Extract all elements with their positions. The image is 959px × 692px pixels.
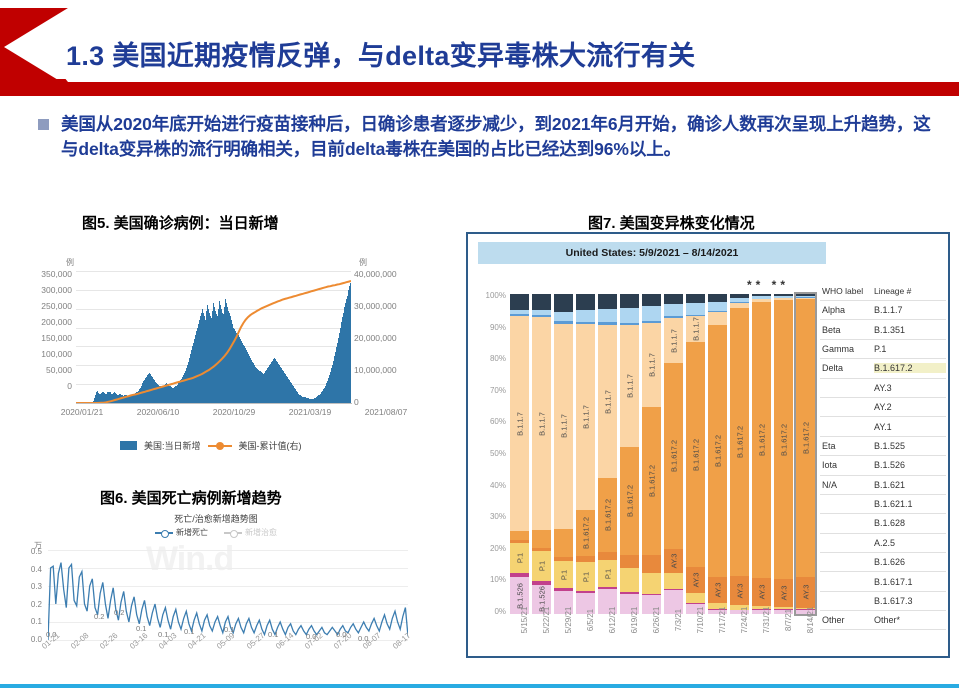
fig7-x-tick-label: 6/12/21 [608, 607, 617, 634]
fig7-bar-segment [708, 302, 727, 311]
fig7-bar-segment: B.1.1.7 [554, 324, 573, 529]
fig5-right-unit: 例 [359, 257, 367, 268]
fig6-legend-marker-deaths [155, 529, 173, 537]
fig6-subtitle: 死亡/治愈新增趋势图 [6, 512, 426, 525]
fig6-legend-label-deaths: 新增死亡 [176, 527, 208, 538]
fig7-stacked-bar: B.1.1.7P.1B.1.526 [532, 294, 551, 614]
fig7-bar-segment [576, 310, 595, 322]
fig5-legend-line-label: 美国-累计值(右) [239, 439, 302, 452]
fig7-table-cell-lineage: B.1.526 [874, 460, 946, 470]
fig7-asterisk-annotation: ** ** [747, 278, 789, 292]
fig7-stacked-bar: B.1.1.7B.1.617.2AY.3 [664, 294, 683, 614]
fig7-stacked-bar: B.1.1.7B.1.617.2 [642, 294, 661, 614]
fig7-bar-segment: AY.3 [708, 577, 727, 603]
fig5-line-series [76, 271, 351, 403]
fig7-bar-segment [642, 555, 661, 573]
fig7-table-cell-lineage: B.1.626 [874, 557, 946, 567]
fig7-bar-segment [510, 531, 529, 541]
fig7-table-cell-who: N/A [822, 480, 874, 490]
fig7-bar-segment [686, 303, 705, 315]
fig7-y-tick: 60% [474, 418, 506, 450]
fig7-segment-label: B.1.617.2 [669, 440, 678, 472]
fig7-x-tick: 5/29/21 [554, 618, 573, 652]
fig7-x-tick-label: 5/29/21 [564, 607, 573, 634]
fig5-legend: 美国:当日新增 美国-累计值(右) [120, 439, 302, 452]
fig7-table-cell-lineage: AY.1 [874, 422, 946, 432]
bullet-text: 美国从2020年底开始进行疫苗接种后，日确诊患者逐步减少，到2021年6月开始，… [61, 112, 938, 162]
bullet-square-icon [38, 119, 49, 130]
fig7-y-tick: 20% [474, 545, 506, 577]
fig7-table-cell-lineage: B.1.1.7 [874, 305, 946, 315]
fig7-table-header-who: WHO label [822, 286, 874, 296]
fig7-stacked-bar: B.1.617.2AY.3 [730, 294, 749, 614]
fig7-stacked-bar: B.1.1.7B.1.617.2P.1 [576, 294, 595, 614]
fig7-bar-segment: AY.3 [686, 567, 705, 593]
fig7-bar-segment: P.1 [510, 543, 529, 573]
fig5-y2-tick: 40,000,000 [354, 269, 424, 301]
fig7-table-cell-lineage: B.1.525 [874, 441, 946, 451]
fig7-table-cell-who: Beta [822, 325, 874, 335]
fig7-table-row: AY.2 [820, 397, 946, 416]
fig7-y-tick: 40% [474, 482, 506, 514]
fig7-bar-segment [554, 312, 573, 321]
fig7-table-row: B.1.617.1 [820, 571, 946, 590]
fig6-legend-item-recovered: 新增治愈 [224, 527, 277, 538]
fig7-bar-segment [510, 294, 529, 310]
fig5-secondary-y-axis-labels: 40,000,00030,000,00020,000,00010,000,000… [354, 269, 424, 429]
fig7-segment-label: AY.3 [713, 582, 722, 597]
fig7-x-tick: 7/10/21 [686, 618, 705, 652]
fig7-segment-label: B.1.1.7 [581, 405, 590, 429]
fig7-stacked-bar: B.1.1.7B.1.617.2 [620, 294, 639, 614]
chart-fig6: 死亡/治愈新增趋势图 新增死亡 新增治愈 万 0.50.40.30.20.10.… [6, 512, 426, 682]
fig7-table-row: B.1.621.1 [820, 494, 946, 513]
fig7-bar-segment [532, 294, 551, 310]
fig7-bar-segment [620, 555, 639, 568]
fig7-segment-label: B.1.1.7 [515, 412, 524, 436]
fig5-x-axis [76, 403, 352, 404]
fig7-table-row: AY.3 [820, 378, 946, 397]
fig7-table-header: WHO label Lineage # [820, 286, 946, 300]
fig7-lineage-table: WHO label Lineage # AlphaB.1.1.7BetaB.1.… [820, 286, 946, 630]
fig7-bar-segment [554, 294, 573, 312]
fig7-x-tick-label: 7/17/21 [718, 607, 727, 634]
fig7-table-cell-lineage: B.1.617.1 [874, 577, 946, 587]
fig7-bar-segment [598, 309, 617, 322]
fig7-x-tick: 6/26/21 [642, 618, 661, 652]
fig5-legend-bar-swatch [120, 441, 137, 450]
fig7-bar-segment: B.1.1.7 [620, 325, 639, 447]
fig7-bar-segment: B.1.617.2 [730, 308, 749, 576]
fig7-table-cell-who: Iota [822, 460, 874, 470]
fig7-table-cell-who: Other [822, 615, 874, 625]
fig7-y-tick: 90% [474, 324, 506, 356]
fig6-legend-item-deaths: 新增死亡 [155, 527, 208, 538]
fig7-x-tick: 5/22/21 [532, 618, 551, 652]
fig7-segment-label: B.1.1.7 [669, 329, 678, 353]
fig7-segment-label: AY.3 [801, 585, 810, 600]
fig7-x-tick: 8/14/21 [796, 618, 815, 652]
fig7-table-cell-lineage: B.1.617.2 [874, 363, 946, 373]
fig7-bar-segment [664, 294, 683, 304]
page-title: 1.3 美国近期疫情反弹，与delta变异毒株大流行有关 [66, 34, 695, 73]
fig6-legend: 新增死亡 新增治愈 [6, 527, 426, 538]
figure5-title: 图5. 美国确诊病例：当日新增 [82, 212, 279, 233]
fig5-y2-tick: 10,000,000 [354, 365, 424, 397]
fig7-table-cell-lineage: A.2.5 [874, 538, 946, 548]
fig7-bar-segment: B.1.617.2 [664, 363, 683, 549]
fig6-data-label: 0.1 [184, 627, 194, 636]
fig6-y-tick: 0.3 [10, 583, 42, 601]
title-banner: 1.3 美国近期疫情反弹，与delta变异毒株大流行有关 [0, 8, 959, 96]
fig7-segment-label: AY.3 [691, 573, 700, 588]
fig7-bar-segment: B.1.617.2 [642, 407, 661, 555]
fig7-table-row: B.1.626 [820, 552, 946, 571]
fig6-y-tick: 0.0 [10, 636, 42, 654]
fig7-bar-segment [664, 573, 683, 589]
chart-fig7: United States: 5/9/2021 – 8/14/2021 ** *… [466, 232, 950, 658]
fig7-table-row: DeltaB.1.617.2 [820, 358, 946, 377]
fig7-x-tick-label: 6/26/21 [652, 607, 661, 634]
fig5-x-tick: 2020/01/21 [44, 407, 120, 417]
fig6-y-tick: 0.2 [10, 601, 42, 619]
fig7-x-tick: 7/3/21 [664, 618, 683, 652]
fig5-legend-bar-label: 美国:当日新增 [144, 439, 201, 452]
fig7-stacked-bar: B.1.617.2AY.3 [752, 294, 771, 614]
fig7-segment-label: B.1.1.7 [603, 390, 612, 414]
fig7-segment-label: B.1.1.7 [559, 414, 568, 438]
fig7-table-cell-lineage: P.1 [874, 344, 946, 354]
fig7-x-tick: 7/24/21 [730, 618, 749, 652]
fig5-y-tick: 100,000 [24, 349, 72, 365]
fig7-table-header-lineage: Lineage # [874, 286, 911, 296]
footer-accent-line [0, 684, 959, 688]
fig7-bar-segment [598, 552, 617, 560]
fig7-bar-segment: P.1 [598, 560, 617, 587]
fig7-table-cell-lineage: B.1.628 [874, 518, 946, 528]
figure7-title: 图7. 美国变异株变化情况 [588, 212, 755, 233]
fig7-x-tick-label: 5/15/21 [520, 607, 529, 634]
fig5-x-tick: 2020/06/10 [120, 407, 196, 417]
fig7-stacked-bar: B.1.617.2AY.3 [774, 294, 793, 614]
fig7-bar-segment: B.1.617.2 [686, 342, 705, 567]
fig7-segment-label: AY.3 [735, 583, 744, 598]
fig7-bar-segment [554, 529, 573, 558]
fig7-table-cell-lineage: AY.2 [874, 402, 946, 412]
fig7-x-tick: 8/7/21 [774, 618, 793, 652]
fig7-bar-segment: B.1.1.7 [576, 324, 595, 510]
fig7-table-cell-lineage: B.1.617.3 [874, 596, 946, 606]
fig6-legend-label-recovered: 新增治愈 [245, 527, 277, 538]
fig7-table-row: AY.1 [820, 416, 946, 435]
fig7-segment-label: B.1.526 [515, 583, 524, 609]
fig7-segment-label: B.1.617.2 [691, 439, 700, 471]
fig5-left-unit: 例 [66, 257, 74, 268]
fig7-bar-segment [708, 294, 727, 302]
fig7-stacked-bar: B.1.617.2AY.3 [796, 294, 815, 614]
fig7-stacked-bars: B.1.1.7P.1B.1.526B.1.1.7P.1B.1.526B.1.1.… [510, 294, 815, 614]
fig7-table-row: B.1.617.3 [820, 591, 946, 610]
bullet-paragraph: 美国从2020年底开始进行疫苗接种后，日确诊患者逐步减少，到2021年6月开始，… [38, 112, 938, 162]
fig7-stacked-bar: B.1.1.7B.1.617.2P.1 [598, 294, 617, 614]
fig7-segment-label: B.1.1.7 [625, 374, 634, 398]
fig7-segment-label: AY.3 [779, 586, 788, 601]
fig7-bar-segment [532, 530, 551, 548]
fig7-table-cell-lineage: B.1.621.1 [874, 499, 946, 509]
fig7-table-cell-lineage: Other* [874, 615, 946, 625]
fig5-y-tick: 350,000 [24, 269, 72, 285]
fig7-y-tick: 70% [474, 387, 506, 419]
fig7-segment-label: B.1.617.2 [735, 426, 744, 458]
fig7-segment-label: B.1.617.2 [801, 422, 810, 454]
fig7-bar-segment: P.1 [532, 551, 551, 581]
fig7-table-cell-lineage: B.1.351 [874, 325, 946, 335]
fig7-table-row: GammaP.1 [820, 339, 946, 358]
fig5-y-tick: 50,000 [24, 365, 72, 381]
fig7-segment-label: P.1 [581, 571, 590, 581]
chart-fig5: 例 例 350,000300,000250,000200,000150,0001… [24, 243, 424, 468]
fig7-x-tick-label: 7/31/21 [762, 607, 771, 634]
fig5-y-tick: 200,000 [24, 317, 72, 333]
fig7-x-tick-label: 8/14/21 [806, 607, 815, 634]
fig7-bar-segment: AY.3 [664, 549, 683, 573]
fig5-y2-tick: 30,000,000 [354, 301, 424, 333]
fig6-legend-marker-recovered [224, 529, 242, 537]
fig5-x-tick: 2020/10/29 [196, 407, 272, 417]
fig7-x-tick-label: 7/10/21 [696, 607, 705, 634]
fig5-y-tick: 150,000 [24, 333, 72, 349]
fig7-x-tick-label: 7/3/21 [674, 609, 683, 631]
fig7-bar-segment: B.1.617.2 [752, 302, 771, 578]
fig7-table-row: N/AB.1.621 [820, 475, 946, 494]
fig7-bar-segment: P.1 [576, 562, 595, 591]
fig5-y2-tick: 20,000,000 [354, 333, 424, 365]
fig7-bar-segment [642, 306, 661, 321]
fig7-y-tick: 80% [474, 355, 506, 387]
fig6-data-label: 0.2 [94, 612, 104, 621]
fig7-y-tick: 10% [474, 576, 506, 608]
fig7-x-tick-label: 8/7/21 [784, 609, 793, 631]
fig7-x-axis-labels: 5/15/215/22/215/29/216/5/216/12/216/19/2… [510, 618, 815, 652]
fig7-segment-label: P.1 [603, 569, 612, 579]
fig7-x-tick: 5/15/21 [510, 618, 529, 652]
fig7-segment-label: B.1.617.2 [713, 435, 722, 467]
fig7-bar-segment: B.1.617.2 [576, 510, 595, 556]
fig7-bar-segment [620, 568, 639, 592]
fig7-bar-segment: B.1.1.7 [664, 318, 683, 363]
fig7-bar-segment: B.1.617.2 [620, 447, 639, 556]
fig7-segment-label: B.1.617.2 [603, 499, 612, 531]
fig6-y-axis-labels: 0.50.40.30.20.10.0 [10, 548, 42, 653]
fig5-y-tick: 250,000 [24, 301, 72, 317]
fig7-bar-segment: B.1.617.2 [598, 478, 617, 552]
fig7-x-tick: 6/5/21 [576, 618, 595, 652]
fig5-y-tick: 300,000 [24, 285, 72, 301]
fig5-plot-area [76, 271, 351, 403]
fig5-x-tick: 2021/08/07 [348, 407, 424, 417]
fig7-x-tick-label: 6/19/21 [630, 607, 639, 634]
fig7-bar-segment: AY.3 [730, 576, 749, 605]
fig7-segment-label: B.1.617.2 [581, 517, 590, 549]
fig5-y-tick: 0 [24, 381, 72, 397]
fig7-table-row: IotaB.1.526 [820, 455, 946, 474]
fig7-bar-segment: B.1.617.2 [774, 300, 793, 579]
fig7-segment-label: B.1.1.7 [691, 317, 700, 341]
fig7-table-row: B.1.628 [820, 513, 946, 532]
fig7-bar-segment: P.1 [554, 561, 573, 588]
fig7-bar-segment [620, 294, 639, 308]
fig7-segment-label: AY.3 [669, 553, 678, 568]
fig7-y-tick: 30% [474, 513, 506, 545]
fig7-header-banner: United States: 5/9/2021 – 8/14/2021 [478, 242, 826, 264]
fig7-table-row: EtaB.1.525 [820, 436, 946, 455]
fig6-y-tick: 0.4 [10, 566, 42, 584]
fig7-x-tick: 6/19/21 [620, 618, 639, 652]
fig6-y-tick: 0.1 [10, 618, 42, 636]
fig6-y-tick: 0.5 [10, 548, 42, 566]
fig7-table-cell-who: Gamma [822, 344, 874, 354]
fig7-bar-segment: B.1.617.2 [796, 299, 815, 577]
fig7-segment-label: B.1.617.2 [625, 485, 634, 517]
fig7-table-row: A.2.5 [820, 533, 946, 552]
fig7-segment-label: P.1 [537, 561, 546, 571]
fig7-segment-label: P.1 [515, 553, 524, 563]
fig6-data-label: 0.2 [114, 608, 124, 617]
fig7-bar-segment [664, 304, 683, 317]
fig7-table-cell-lineage: B.1.621 [874, 480, 946, 490]
fig7-table-cell-who: Eta [822, 441, 874, 451]
fig7-segment-label: B.1.1.7 [647, 353, 656, 377]
fig7-bar-segment: B.1.1.7 [532, 317, 551, 530]
fig7-bar-segment [686, 294, 705, 303]
fig7-stacked-bar: B.1.617.2AY.3 [708, 294, 727, 614]
fig7-table-cell-lineage: AY.3 [874, 383, 946, 393]
fig5-x-tick: 2021/03/19 [272, 407, 348, 417]
fig7-bar-segment: B.1.1.7 [686, 316, 705, 342]
fig7-bar-segment [620, 308, 639, 323]
fig7-bar-segment [576, 294, 595, 310]
fig7-bar-segment: B.1.1.7 [598, 325, 617, 479]
fig6-x-axis-labels: 01-2102-0802-2603-1604-0304-2105-0905-27… [40, 644, 420, 653]
fig7-stacked-bar: B.1.1.7P.1B.1.526 [510, 294, 529, 614]
fig7-bar-segment: AY.3 [774, 579, 793, 607]
fig7-segment-label: B.1.617.2 [757, 424, 766, 456]
fig7-x-tick-label: 5/22/21 [542, 607, 551, 634]
fig7-x-tick-label: 6/5/21 [586, 609, 595, 631]
fig5-y-axis-labels: 350,000300,000250,000200,000150,000100,0… [24, 269, 72, 397]
fig7-bar-segment: B.1.617.2 [708, 325, 727, 577]
fig7-x-tick: 7/17/21 [708, 618, 727, 652]
fig7-table-row: OtherOther* [820, 610, 946, 629]
fig7-x-tick: 6/12/21 [598, 618, 617, 652]
fig7-bar-segment: B.1.1.7 [642, 323, 661, 407]
fig7-segment-label: AY.3 [757, 584, 766, 599]
fig7-bar-segment: B.1.1.7 [510, 316, 529, 530]
fig7-bar-segment [686, 593, 705, 603]
fig7-table-row: BetaB.1.351 [820, 319, 946, 338]
figure6-title: 图6. 美国死亡病例新增趋势 [100, 487, 282, 508]
fig7-y-tick: 100% [474, 292, 506, 324]
fig7-bar-segment [642, 294, 661, 306]
fig7-table-row: AlphaB.1.1.7 [820, 300, 946, 319]
fig7-x-tick-label: 7/24/21 [740, 607, 749, 634]
fig7-bar-segment: AY.3 [796, 577, 815, 607]
fig7-segment-label: B.1.617.2 [647, 465, 656, 497]
fig7-x-tick: 7/31/21 [752, 618, 771, 652]
fig5-x-axis-labels: 2020/01/212020/06/102020/10/292021/03/19… [44, 407, 424, 417]
fig7-bar-segment [642, 573, 661, 594]
fig7-table-cell-who: Alpha [822, 305, 874, 315]
fig7-y-tick: 0% [474, 608, 506, 640]
fig7-stacked-bar: B.1.1.7P.1 [554, 294, 573, 614]
fig7-segment-label: B.1.617.2 [779, 424, 788, 456]
fig7-table-cell-who: Delta [822, 363, 874, 373]
fig7-bar-segment: AY.3 [752, 578, 771, 606]
fig7-bar-segment [708, 312, 727, 325]
fig7-segment-label: P.1 [559, 570, 568, 580]
fig7-y-axis-labels: 100%90%80%70%60%50%40%30%20%10%0% [474, 292, 506, 640]
fig7-bar-segment [598, 294, 617, 309]
fig7-segment-label: B.1.1.7 [537, 412, 546, 436]
fig7-y-tick: 50% [474, 450, 506, 482]
fig5-legend-line-swatch [208, 441, 232, 450]
fig7-stacked-bar: B.1.1.7B.1.617.2AY.3 [686, 294, 705, 614]
